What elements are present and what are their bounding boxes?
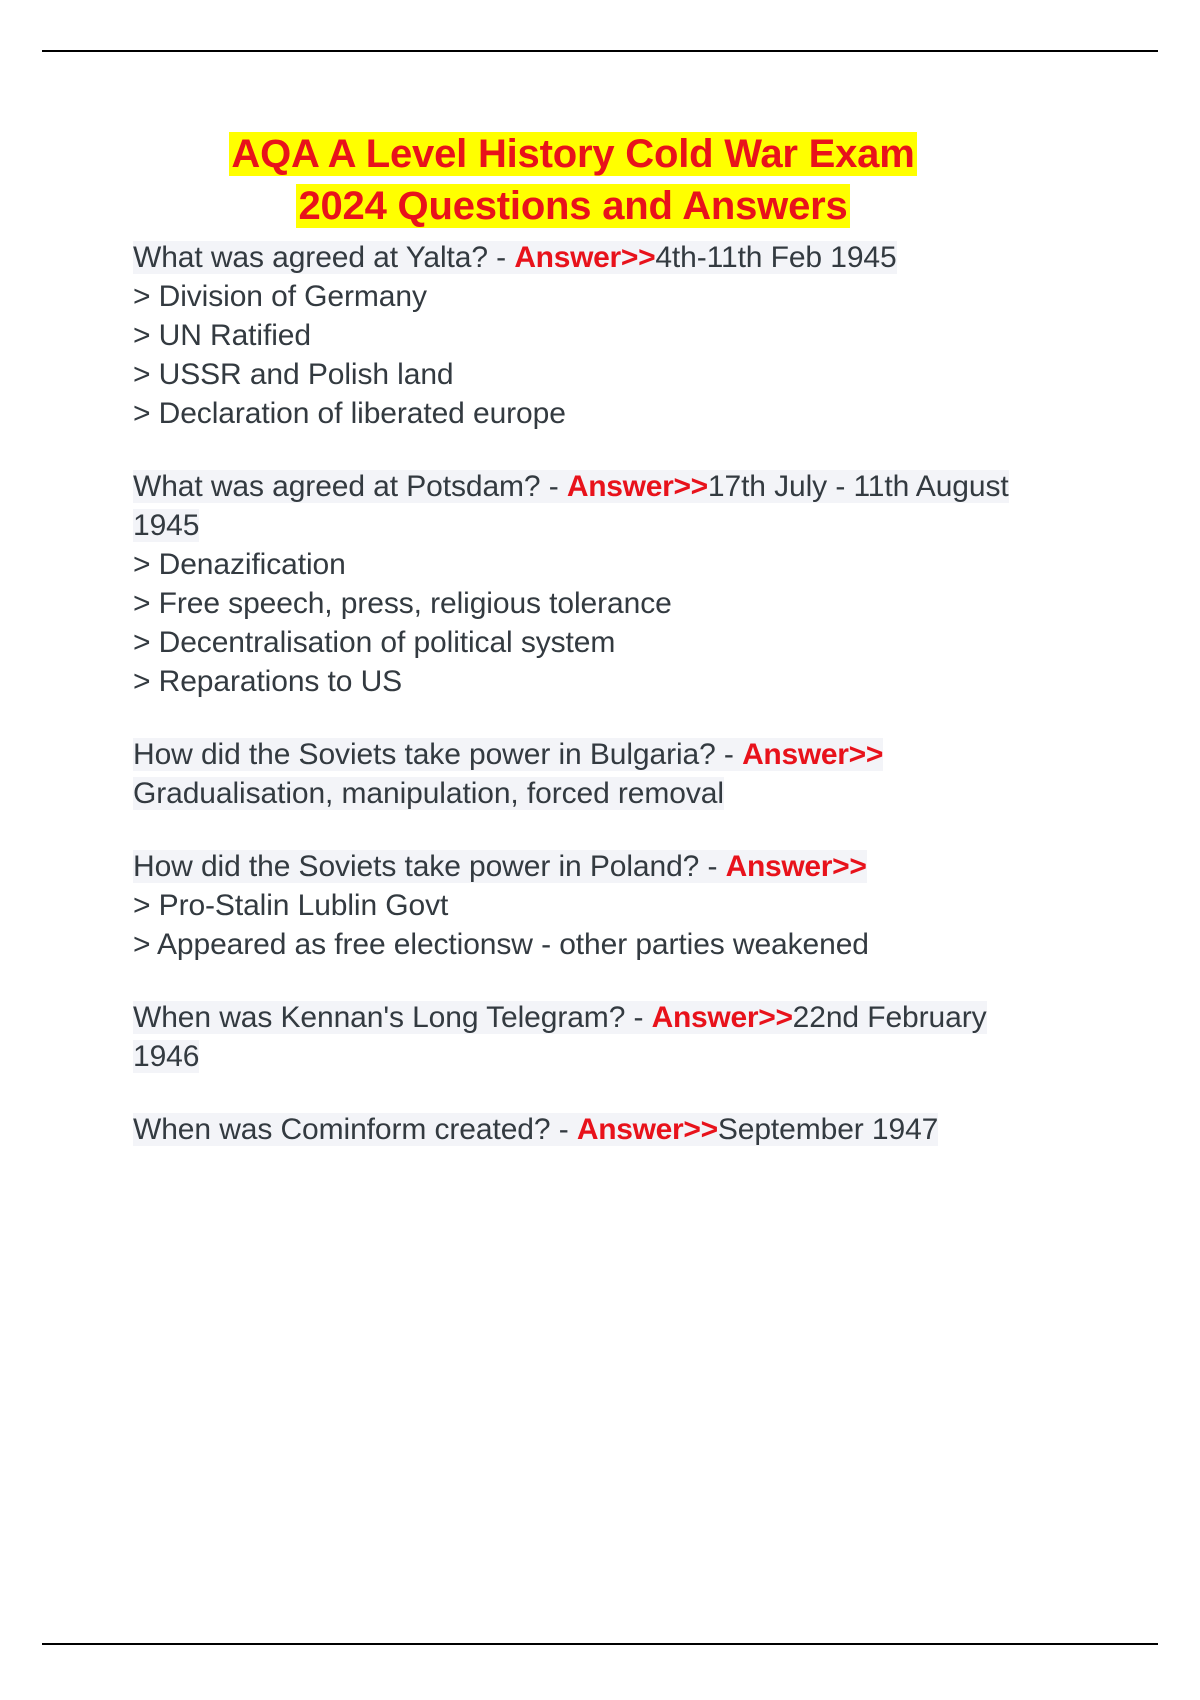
qa-question-line: How did the Soviets take power in Bulgar… — [133, 735, 1013, 774]
qa-bullet: > Appeared as free electionsw - other pa… — [133, 925, 1013, 964]
answer-marker: Answer>> — [742, 738, 883, 771]
question-text: How did the Soviets take power in Poland… — [133, 850, 726, 883]
qa-question-line: How did the Soviets take power in Poland… — [133, 847, 1013, 886]
qa-bullet: > Reparations to US — [133, 662, 1013, 701]
qa-block: What was agreed at Yalta? - Answer>>4th-… — [133, 238, 1013, 433]
qa-question-line: What was agreed at Potsdam? - Answer>>17… — [133, 467, 1013, 545]
footer-divider — [42, 1643, 1158, 1645]
question-text: When was Kennan's Long Telegram? - — [133, 1001, 652, 1034]
question-text: When was Cominform created? - — [133, 1113, 577, 1146]
page-title-line-2: 2024 Questions and Answers — [296, 184, 849, 228]
question-text: How did the Soviets take power in Bulgar… — [133, 738, 742, 771]
answer-marker: Answer>> — [652, 1001, 793, 1034]
document-page: AQA A Level History Cold War Exam 2024 Q… — [0, 0, 1200, 1700]
answer-text: Gradualisation, manipulation, forced rem… — [133, 777, 724, 810]
qa-block: How did the Soviets take power in Bulgar… — [133, 735, 1013, 813]
question-text: What was agreed at Potsdam? - — [133, 470, 567, 503]
header-divider — [42, 50, 1158, 52]
bullet-text: > Pro-Stalin Lublin Govt — [133, 889, 448, 922]
answer-marker: Answer>> — [514, 241, 655, 274]
qa-block: What was agreed at Potsdam? - Answer>>17… — [133, 467, 1013, 701]
page-title: AQA A Level History Cold War Exam 2024 Q… — [133, 128, 1013, 232]
answer-text: 4th-11th Feb 1945 — [655, 241, 896, 274]
qa-bullet: > Declaration of liberated europe — [133, 394, 1013, 433]
qa-bullet: > Division of Germany — [133, 277, 1013, 316]
qa-bullet: > Denazification — [133, 545, 1013, 584]
qa-answer-line: Gradualisation, manipulation, forced rem… — [133, 774, 1013, 813]
qa-bullet: > Decentralisation of political system — [133, 623, 1013, 662]
bullet-text: > USSR and Polish land — [133, 358, 454, 391]
qa-question-line: When was Kennan's Long Telegram? - Answe… — [133, 998, 1013, 1076]
answer-marker: Answer>> — [577, 1113, 718, 1146]
qa-bullet: > Pro-Stalin Lublin Govt — [133, 886, 1013, 925]
bullet-text: > Appeared as free electionsw - other pa… — [133, 928, 869, 961]
bullet-text: > Decentralisation of political system — [133, 626, 615, 659]
bullet-text: > Reparations to US — [133, 665, 402, 698]
question-text: What was agreed at Yalta? - — [133, 241, 514, 274]
qa-question-line: When was Cominform created? - Answer>>Se… — [133, 1110, 1013, 1149]
bullet-text: > Free speech, press, religious toleranc… — [133, 587, 672, 620]
qa-block: How did the Soviets take power in Poland… — [133, 847, 1013, 964]
bullet-text: > Division of Germany — [133, 280, 427, 313]
qa-bullet: > UN Ratified — [133, 316, 1013, 355]
bullet-text: > Declaration of liberated europe — [133, 397, 566, 430]
document-content: AQA A Level History Cold War Exam 2024 Q… — [133, 128, 1013, 1149]
qa-bullet: > Free speech, press, religious toleranc… — [133, 584, 1013, 623]
bullet-text: > UN Ratified — [133, 319, 311, 352]
qa-bullet: > USSR and Polish land — [133, 355, 1013, 394]
qa-block: When was Cominform created? - Answer>>Se… — [133, 1110, 1013, 1149]
qa-question-line: What was agreed at Yalta? - Answer>>4th-… — [133, 238, 1013, 277]
answer-text: September 1947 — [718, 1113, 938, 1146]
bullet-text: > Denazification — [133, 548, 346, 581]
qa-block: When was Kennan's Long Telegram? - Answe… — [133, 998, 1013, 1076]
answer-marker: Answer>> — [567, 470, 708, 503]
page-title-line-1: AQA A Level History Cold War Exam — [229, 132, 916, 176]
answer-marker: Answer>> — [726, 850, 867, 883]
